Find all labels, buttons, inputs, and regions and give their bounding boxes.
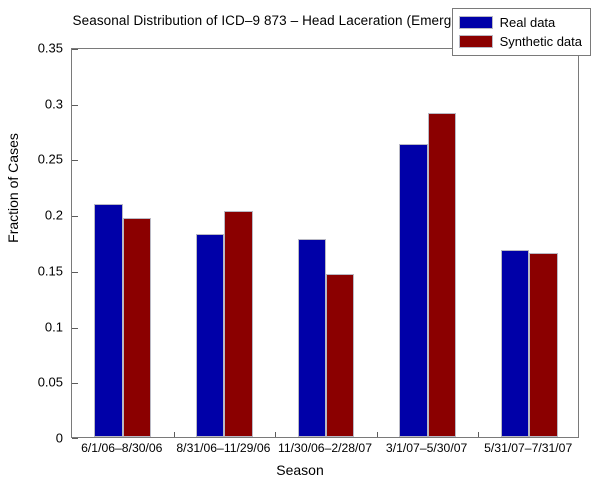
- x-tick-label: 6/1/06–8/30/06: [81, 441, 162, 455]
- y-tick-label: 0: [0, 431, 63, 446]
- legend-label: Real data: [500, 15, 556, 30]
- x-tick-label: 5/31/07–7/31/07: [484, 441, 572, 455]
- bar: [399, 144, 427, 437]
- bar: [428, 113, 456, 437]
- bar: [298, 239, 326, 437]
- bar: [94, 204, 122, 437]
- chart-figure: Seasonal Distribution of ICD–9 873 – Hea…: [0, 0, 600, 495]
- plot-area: [71, 48, 579, 438]
- legend-label: Synthetic data: [500, 34, 582, 49]
- chart-legend: Real dataSynthetic data: [452, 8, 591, 56]
- x-tick-label: 11/30/06–2/28/07: [278, 441, 372, 455]
- x-axis-tick-labels: 6/1/06–8/30/068/31/06–11/29/0611/30/06–2…: [71, 441, 579, 461]
- bar: [326, 274, 354, 437]
- bar: [196, 234, 224, 437]
- bar: [224, 211, 252, 437]
- y-tick-label: 0.05: [0, 375, 63, 390]
- bar: [529, 253, 557, 437]
- legend-item: Synthetic data: [459, 32, 582, 51]
- y-tick-label: 0.25: [0, 152, 63, 167]
- y-tick-mark: [72, 438, 78, 439]
- legend-item: Real data: [459, 13, 582, 32]
- x-tick-label: 8/31/06–11/29/06: [176, 441, 270, 455]
- y-tick-label: 0.3: [0, 96, 63, 111]
- y-tick-label: 0.15: [0, 263, 63, 278]
- y-tick-label: 0.35: [0, 41, 63, 56]
- legend-swatch-icon: [459, 35, 493, 48]
- bars-layer: [72, 49, 578, 437]
- bar: [501, 250, 529, 437]
- y-tick-label: 0.2: [0, 208, 63, 223]
- x-axis-title: Season: [0, 462, 600, 478]
- x-tick-label: 3/1/07–5/30/07: [386, 441, 467, 455]
- legend-swatch-icon: [459, 16, 493, 29]
- bar: [123, 218, 151, 438]
- y-tick-label: 0.1: [0, 319, 63, 334]
